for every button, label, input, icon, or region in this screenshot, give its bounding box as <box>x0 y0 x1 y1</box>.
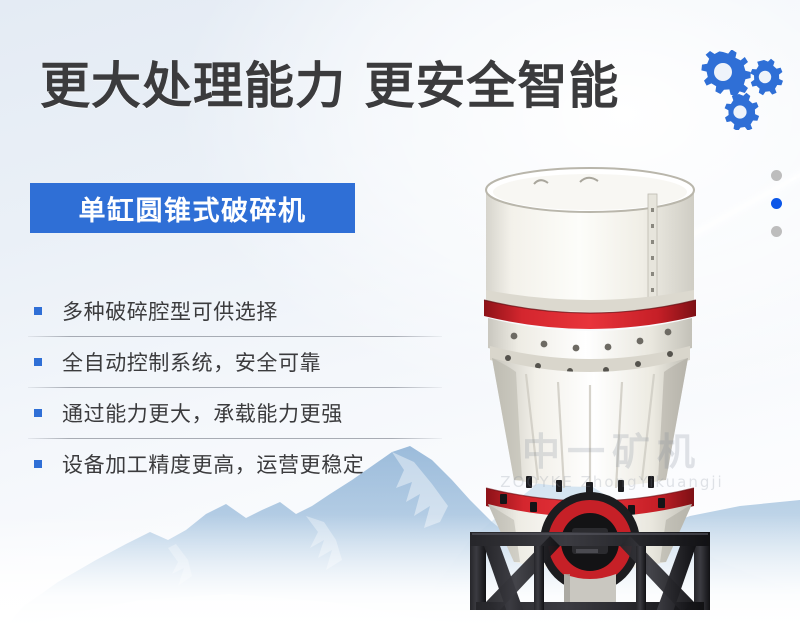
carousel-pager[interactable] <box>771 170 782 237</box>
product-title-tag: 单缸圆锥式破碎机 <box>30 183 355 233</box>
cone-crusher-illustration <box>430 150 770 610</box>
feature-item: 全自动控制系统，安全可靠 <box>28 337 448 387</box>
bullet-square-icon <box>34 307 42 315</box>
feature-text: 多种破碎腔型可供选择 <box>62 296 278 326</box>
banner-headline: 更大处理能力 更安全智能 <box>40 57 619 115</box>
product-title-text: 单缸圆锥式破碎机 <box>79 189 307 228</box>
feature-text: 通过能力更大，承载能力更强 <box>62 398 343 428</box>
gears-icon <box>695 50 791 130</box>
feature-item: 通过能力更大，承载能力更强 <box>28 388 448 438</box>
pager-dot-1[interactable] <box>771 170 782 181</box>
feature-text: 全自动控制系统，安全可靠 <box>62 347 321 377</box>
pager-dot-2-active[interactable] <box>771 198 782 209</box>
promo-banner: 更大处理能力 更安全智能 单缸圆锥式破碎机 多种破碎腔型可供选择 全自动控制系统… <box>0 0 800 634</box>
feature-item: 多种破碎腔型可供选择 <box>28 286 448 336</box>
bullet-square-icon <box>34 409 42 417</box>
pager-dot-3[interactable] <box>771 226 782 237</box>
bullet-square-icon <box>34 358 42 366</box>
